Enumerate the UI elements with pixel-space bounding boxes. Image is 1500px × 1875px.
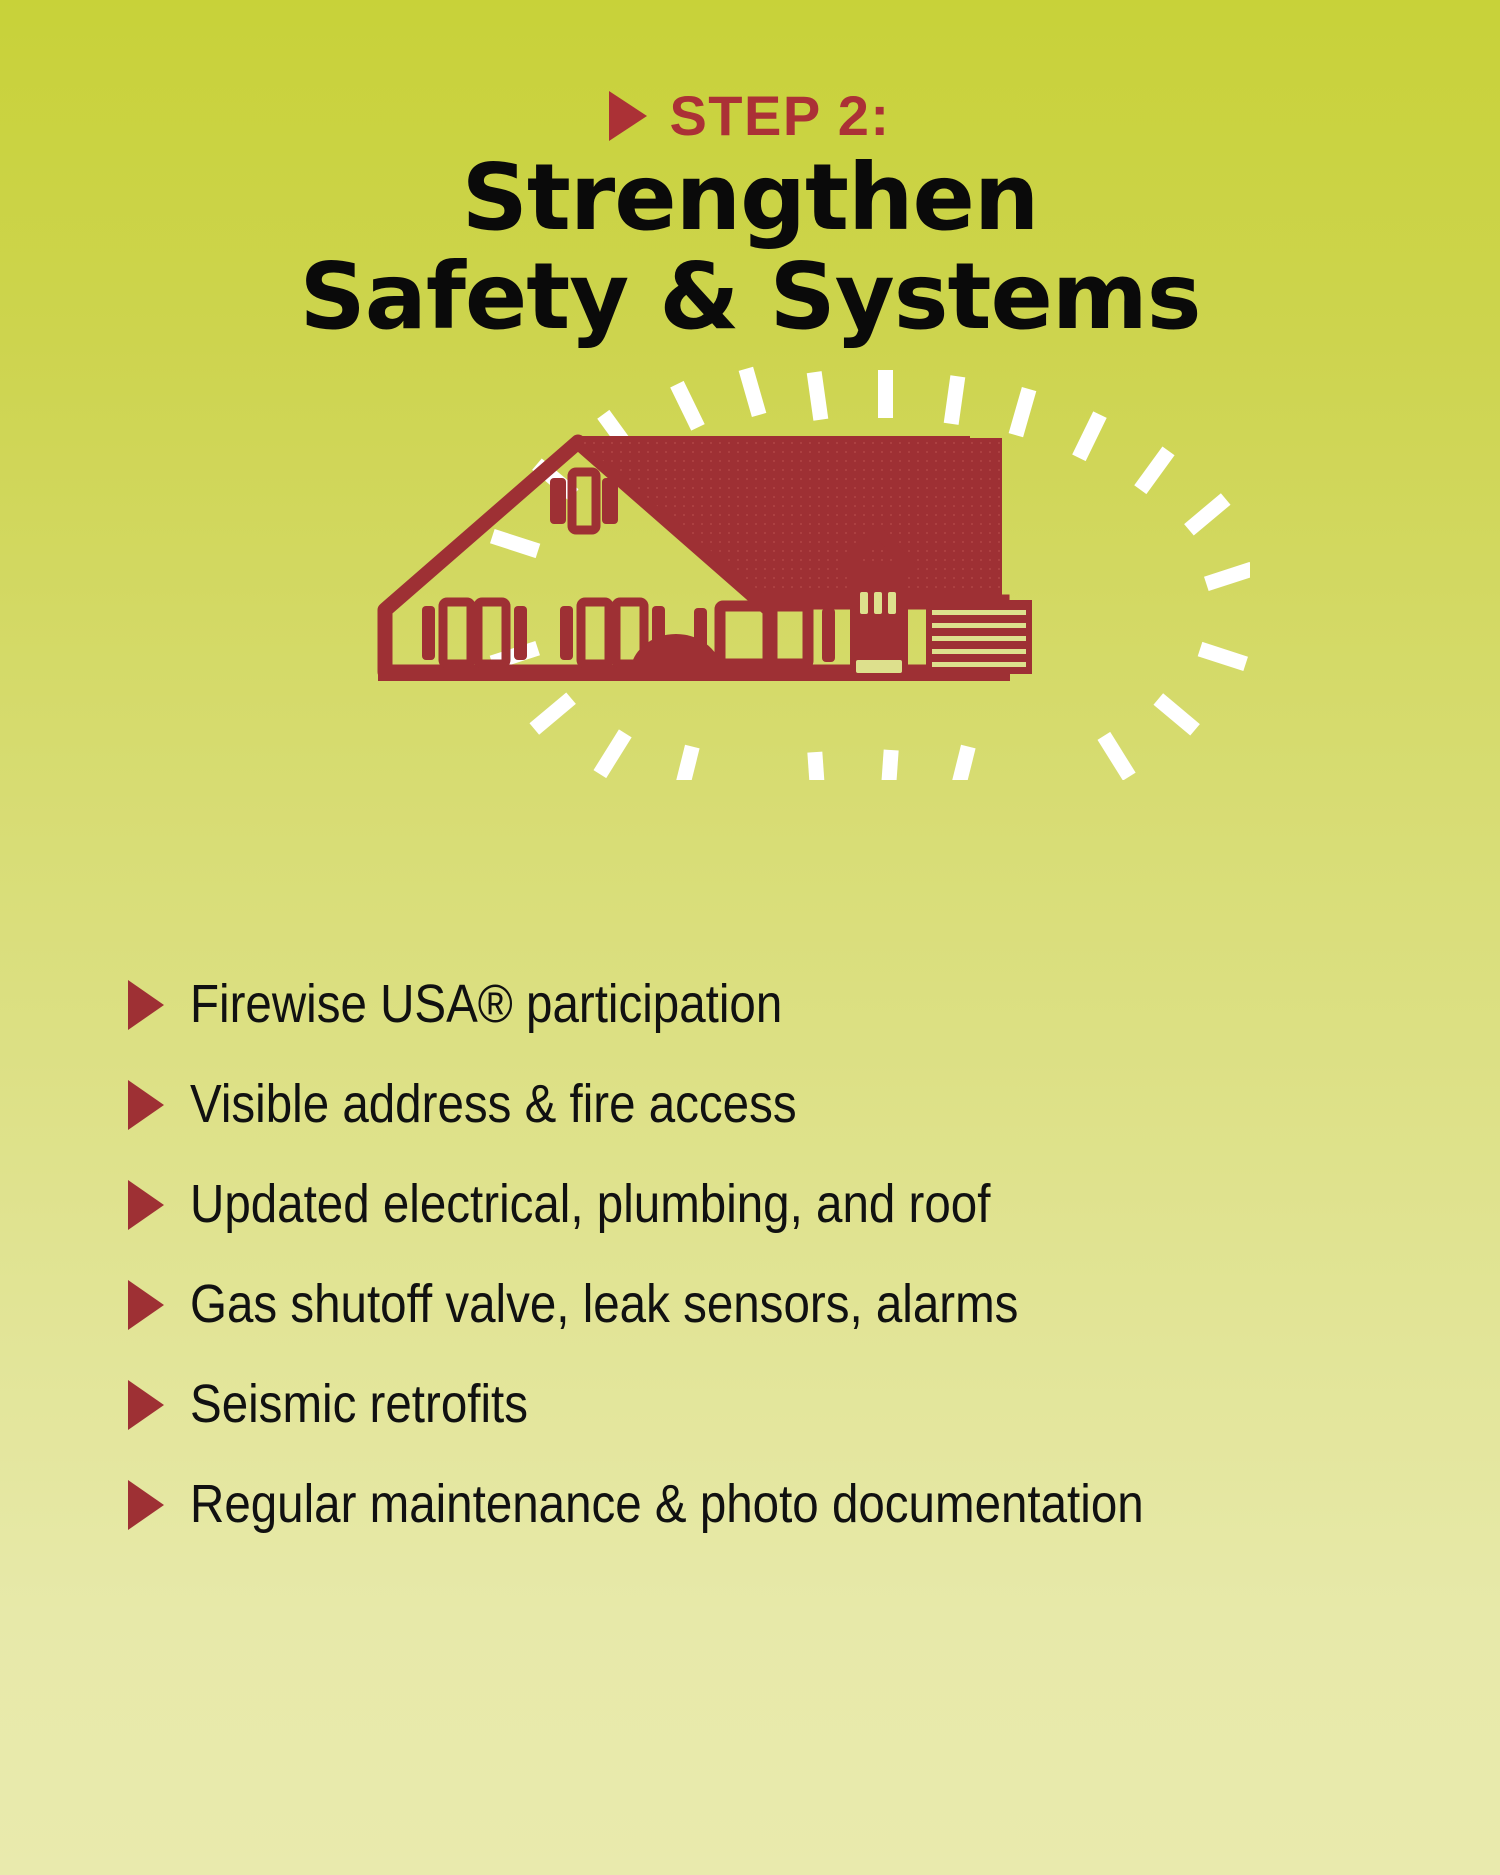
triangle-right-icon [128,1380,164,1430]
list-item[interactable]: Regular maintenance & photo documentatio… [128,1455,1428,1555]
triangle-right-icon [128,980,164,1030]
triangle-right-icon [128,1180,164,1230]
step-label: STEP 2: [669,88,890,144]
front-door [850,572,908,677]
list-item[interactable]: Updated electrical, plumbing, and roof [128,1155,1428,1255]
page-title: Strengthen Safety & Systems [0,148,1500,347]
list-item[interactable]: Firewise USA® participation [128,955,1428,1055]
page-title-line-1: Strengthen [0,148,1500,247]
list-item[interactable]: Gas shutoff valve, leak sensors, alarms [128,1255,1428,1355]
list-item-label: Firewise USA® participation [190,975,782,1034]
triangle-right-icon [609,91,647,141]
list-item-label: Seismic retrofits [190,1375,528,1434]
list-item-label: Updated electrical, plumbing, and roof [190,1175,990,1234]
list-item[interactable]: Visible address & fire access [128,1055,1428,1155]
house-with-sunburst-illustration [250,360,1250,780]
garage-door [926,600,1032,674]
step-eyebrow: STEP 2: [0,88,1500,144]
checklist: Firewise USA® participation Visible addr… [128,955,1428,1555]
triangle-right-icon [128,1480,164,1530]
page-title-line-2: Safety & Systems [0,247,1500,346]
list-item[interactable]: Seismic retrofits [128,1355,1428,1455]
attic-vent-window [550,472,618,530]
list-item-label: Regular maintenance & photo documentatio… [190,1475,1144,1534]
list-item-label: Gas shutoff valve, leak sensors, alarms [190,1275,1018,1334]
triangle-right-icon [128,1080,164,1130]
triangle-right-icon [128,1280,164,1330]
infographic-poster: STEP 2: Strengthen Safety & Systems [0,0,1500,1875]
list-item-label: Visible address & fire access [190,1075,797,1134]
house-icon [378,436,1032,681]
